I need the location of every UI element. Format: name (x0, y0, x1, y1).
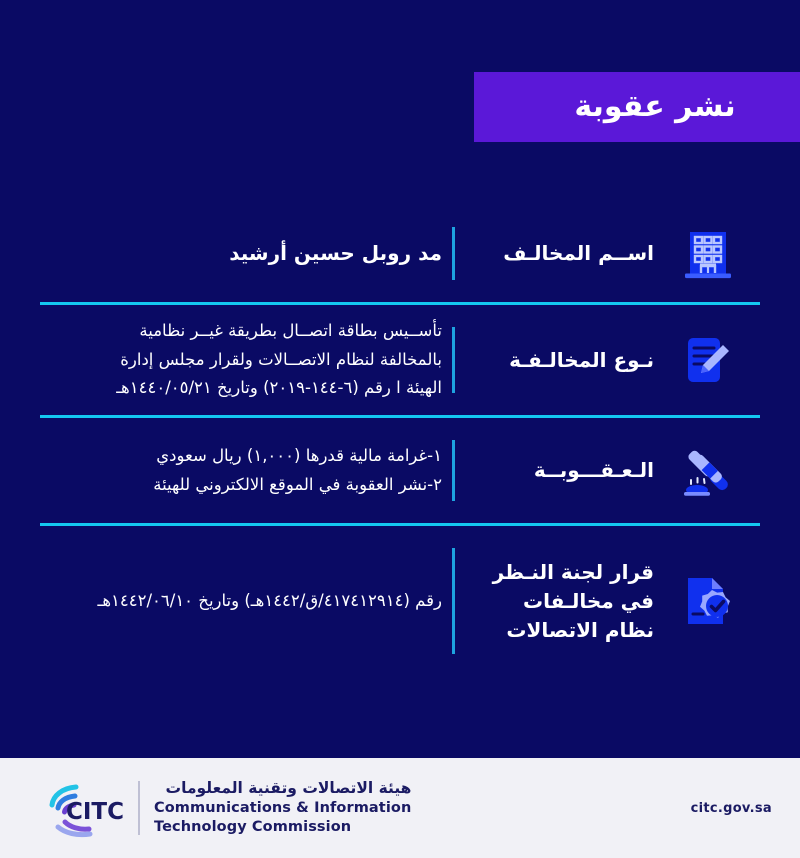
table-row: نـوع المخالـفـة تأســيس بطاقة اتصــال بط… (40, 305, 760, 418)
row-separator (452, 227, 455, 280)
row-value-line: بالمخالفة لنظام الاتصــالات ولقرار مجلس … (48, 346, 442, 374)
row-icon-cell (660, 205, 760, 302)
row-value: ١-غرامة مالية قدرها (١,٠٠٠) ريال سعودي ٢… (40, 418, 442, 523)
decision-check-icon (679, 572, 737, 630)
row-value-line: ١-غرامة مالية قدرها (١,٠٠٠) ريال سعودي (48, 442, 442, 470)
page-header-banner: نشر عقوبة (474, 72, 800, 142)
row-value-line: مد روبل حسين أرشيد (48, 236, 442, 270)
website-link[interactable]: citc.gov.sa (691, 801, 772, 816)
page-footer: CITC هيئة الاتصالات وتقنية المعلومات Com… (0, 758, 800, 858)
organization-name-english-line2: Technology Commission (154, 818, 411, 837)
brand-lockup: CITC هيئة الاتصالات وتقنية المعلومات Com… (46, 778, 411, 838)
row-label: قرار لجنة النـظر في مخالـفات نظام الاتصا… (465, 558, 660, 645)
row-label: نـوع المخالـفـة (465, 305, 660, 415)
gavel-icon (679, 442, 737, 500)
row-value-line: رقم (٤١٧٤١٢٩١٤/ق/١٤٤٢هـ) وتاريخ ١٤٤٢/٠٦/… (48, 587, 442, 615)
brand-text: هيئة الاتصالات وتقنية المعلومات Communic… (154, 778, 411, 837)
row-value: تأســيس بطاقة اتصــال بطريقة غيــر نظامي… (40, 305, 442, 415)
citc-logo-icon: CITC (46, 778, 132, 838)
row-label-line: في مخالـفات (465, 587, 654, 616)
row-value: رقم (٤١٧٤١٢٩١٤/ق/١٤٤٢هـ) وتاريخ ١٤٤٢/٠٦/… (40, 526, 442, 676)
row-value-line: الهيئة ا رقم (٦-١٤٤-٢٠١٩) وتاريخ ١٤٤٠/٠٥… (48, 374, 442, 402)
page-title: نشر عقوبة (538, 92, 735, 122)
row-separator (452, 440, 455, 501)
row-separator (452, 327, 455, 393)
brand-divider (138, 781, 140, 835)
penalty-details-table: اســم المخالـف مد روبل حسين أرشيد (40, 205, 760, 676)
row-value-line: تأســيس بطاقة اتصــال بطريقة غيــر نظامي… (48, 317, 442, 345)
organization-name-arabic: هيئة الاتصالات وتقنية المعلومات (154, 778, 411, 799)
table-row: الـعـقـــوبــة ١-غرامة مالية قدرها (١,٠٠… (40, 418, 760, 526)
svg-text:CITC: CITC (66, 799, 124, 825)
building-icon (679, 225, 737, 283)
document-pen-icon (679, 331, 737, 389)
row-separator (452, 548, 455, 654)
row-icon-cell (660, 305, 760, 415)
organization-name-english-line1: Communications & Information (154, 799, 411, 818)
row-icon-cell (660, 418, 760, 523)
row-icon-cell (660, 526, 760, 676)
row-value: مد روبل حسين أرشيد (40, 205, 442, 302)
row-value-line: ٢-نشر العقوبة في الموقع الالكتروني للهيئ… (48, 471, 442, 499)
table-row: اســم المخالـف مد روبل حسين أرشيد (40, 205, 760, 305)
row-label: الـعـقـــوبــة (465, 418, 660, 523)
row-label: اســم المخالـف (465, 205, 660, 302)
row-label-line: قرار لجنة النـظر (465, 558, 654, 587)
table-row: قرار لجنة النـظر في مخالـفات نظام الاتصا… (40, 526, 760, 676)
row-label-line: نظام الاتصالات (465, 616, 654, 645)
